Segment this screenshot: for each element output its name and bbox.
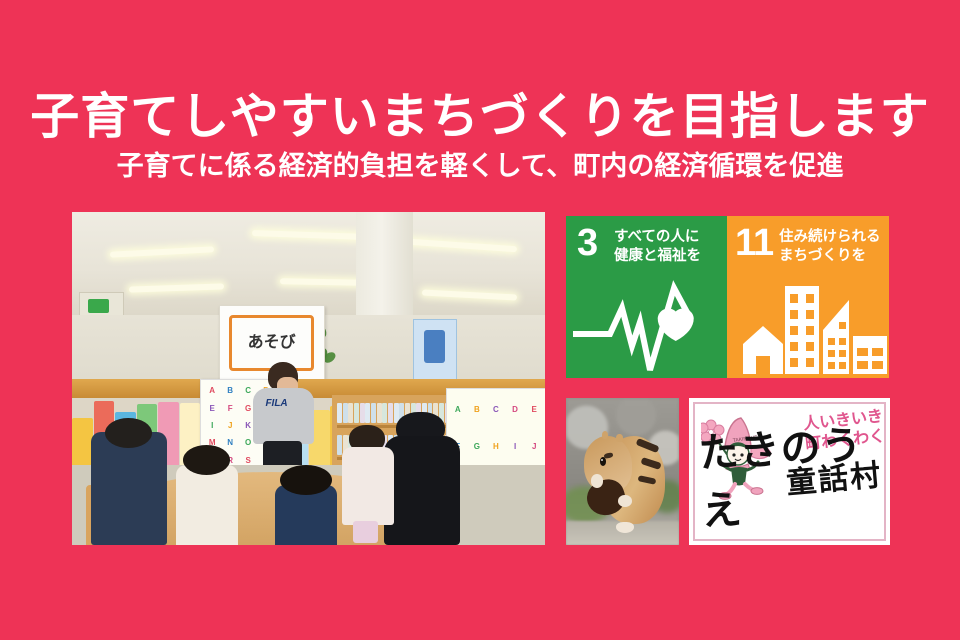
woman-black-coat	[384, 412, 460, 545]
ceiling-light	[280, 278, 365, 285]
sdg-caption: すべての人に 健康と福祉を	[614, 228, 701, 265]
child-cowprint	[176, 465, 237, 545]
wall-poster-blue	[413, 319, 458, 381]
town-logo: TAKINOUE 人いきいき 町わくわく 童話村 たきのうえ	[689, 398, 890, 545]
sdg-caption: 住み続けられる まちづくりを	[779, 228, 881, 265]
page-title: 子育てしやすいまちづくりを目指します	[0, 92, 960, 143]
child-pink	[342, 425, 394, 525]
ceiling	[72, 212, 545, 315]
city-buildings-icon	[727, 278, 889, 378]
sdg-badge-11: 11 住み続けられる まちづくりを	[727, 216, 889, 378]
adult-navy-hoodie	[91, 432, 167, 545]
heartbeat-heart-icon	[566, 278, 728, 378]
sdg-badge-3: 3 すべての人に 健康と福祉を	[566, 216, 728, 378]
slide-root: 子育てしやすいまちづくりを目指します 子育てに係る経済的負担を軽くして、町内の経…	[0, 0, 960, 640]
sdg-number: 3	[577, 224, 598, 262]
hoodie-brand-label: FILA	[265, 398, 287, 409]
library-children-photo: あそび ABCDEFGHIJKLMNOPQRSTUVWX ABCDEFGHIJ …	[72, 212, 545, 545]
logo-main-text: たきのうえ	[697, 411, 890, 537]
alphabet-poster-secondary: ABCDEFGHIJ	[446, 388, 545, 467]
sdg-number: 11	[735, 224, 773, 262]
adult-holding-poster: FILA	[247, 362, 318, 475]
chipmunk-photo	[566, 398, 679, 545]
child-head	[280, 465, 332, 495]
page-subtitle: 子育てに係る経済的負担を軽くして、町内の経済循環を促進	[0, 152, 960, 182]
